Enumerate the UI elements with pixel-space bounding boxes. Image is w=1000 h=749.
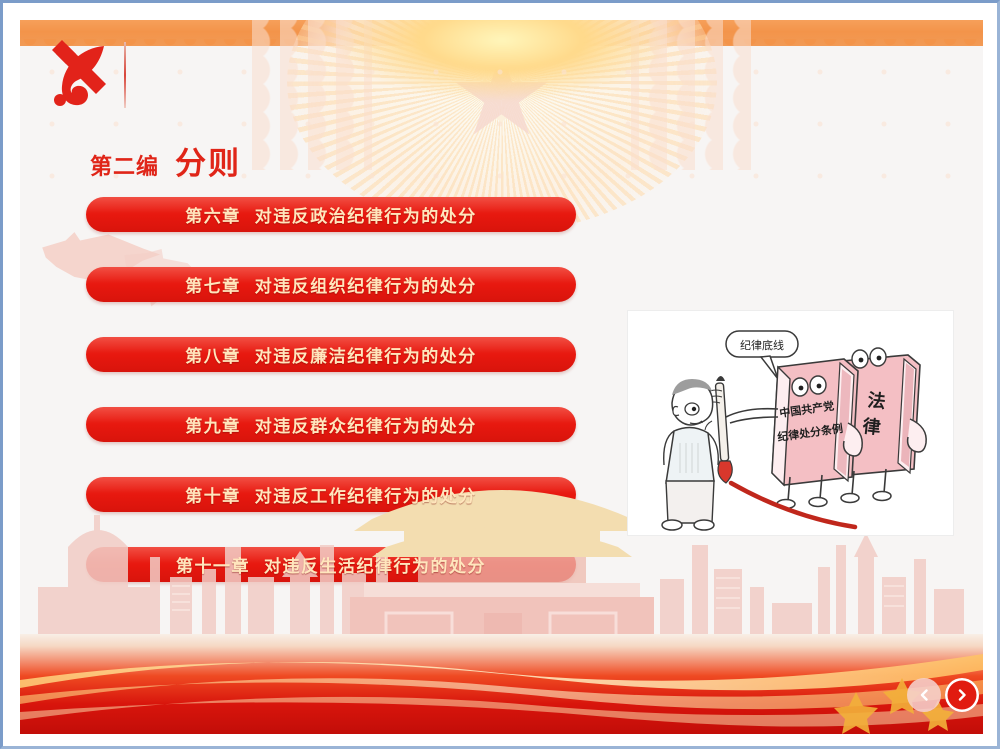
svg-text:纪律底线: 纪律底线: [740, 338, 784, 352]
chapter-item-11[interactable]: 第十一章对违反生活纪律行为的处分: [86, 547, 576, 582]
title-main: 分则: [175, 138, 241, 183]
page-title: 第二编 分则: [90, 138, 241, 183]
chapter-number: 第十一章: [176, 557, 250, 576]
chapter-label: 第九章对违反群众纪律行为的处分: [185, 412, 477, 437]
chapter-label: 第六章对违反政治纪律行为的处分: [185, 202, 477, 227]
discipline-cartoon-illustration: 纪律底线 法 律: [628, 311, 953, 535]
chapter-list: 第六章对违反政治纪律行为的处分 第七章对违反组织纪律行为的处分 第八章对违反廉洁…: [86, 197, 586, 617]
illustration-panel: 纪律底线 法 律: [628, 311, 953, 535]
slide-viewer: 第二编 分则 第六章对违反政治纪律行为的处分 第七章对违反组织纪律行为的处分 第…: [0, 0, 1000, 749]
chapter-number: 第六章: [185, 207, 241, 226]
svg-text:法: 法: [867, 389, 887, 412]
chapter-title: 对违反群众纪律行为的处分: [255, 417, 477, 436]
chapter-number: 第八章: [185, 347, 241, 366]
chevron-right-icon: [956, 689, 968, 701]
slide-canvas: 第二编 分则 第六章对违反政治纪律行为的处分 第七章对违反组织纪律行为的处分 第…: [20, 20, 983, 734]
chapter-number: 第九章: [185, 417, 241, 436]
chapter-label: 第八章对违反廉洁纪律行为的处分: [185, 342, 477, 367]
svg-text:律: 律: [862, 415, 882, 438]
chapter-title: 对违反生活纪律行为的处分: [264, 557, 486, 576]
chapter-title: 对违反工作纪律行为的处分: [255, 487, 477, 506]
chapter-item-7[interactable]: 第七章对违反组织纪律行为的处分: [86, 267, 576, 302]
chapter-number: 第七章: [185, 277, 241, 296]
chapter-item-9[interactable]: 第九章对违反群众纪律行为的处分: [86, 407, 576, 442]
emblem-divider: [124, 42, 126, 108]
cpc-hammer-sickle-icon: [42, 38, 152, 118]
chapter-title: 对违反政治纪律行为的处分: [255, 207, 477, 226]
chapter-item-6[interactable]: 第六章对违反政治纪律行为的处分: [86, 197, 576, 232]
bottom-ribbon-decoration: [20, 634, 983, 734]
chapter-label: 第十章对违反工作纪律行为的处分: [185, 482, 477, 507]
chapter-title: 对违反组织纪律行为的处分: [255, 277, 477, 296]
chapter-label: 第七章对违反组织纪律行为的处分: [185, 272, 477, 297]
chevron-left-icon: [918, 689, 930, 701]
chapter-item-10[interactable]: 第十章对违反工作纪律行为的处分: [86, 477, 576, 512]
next-slide-button[interactable]: [945, 678, 979, 712]
chapter-number: 第十章: [185, 487, 241, 506]
cpc-emblem: [42, 38, 162, 116]
previous-slide-button[interactable]: [907, 678, 941, 712]
chapter-title: 对违反廉洁纪律行为的处分: [255, 347, 477, 366]
chapter-label: 第十一章对违反生活纪律行为的处分: [176, 552, 486, 577]
slide-navigation: [907, 678, 979, 712]
title-prefix: 第二编: [90, 149, 159, 181]
chapter-item-8[interactable]: 第八章对违反廉洁纪律行为的处分: [86, 337, 576, 372]
